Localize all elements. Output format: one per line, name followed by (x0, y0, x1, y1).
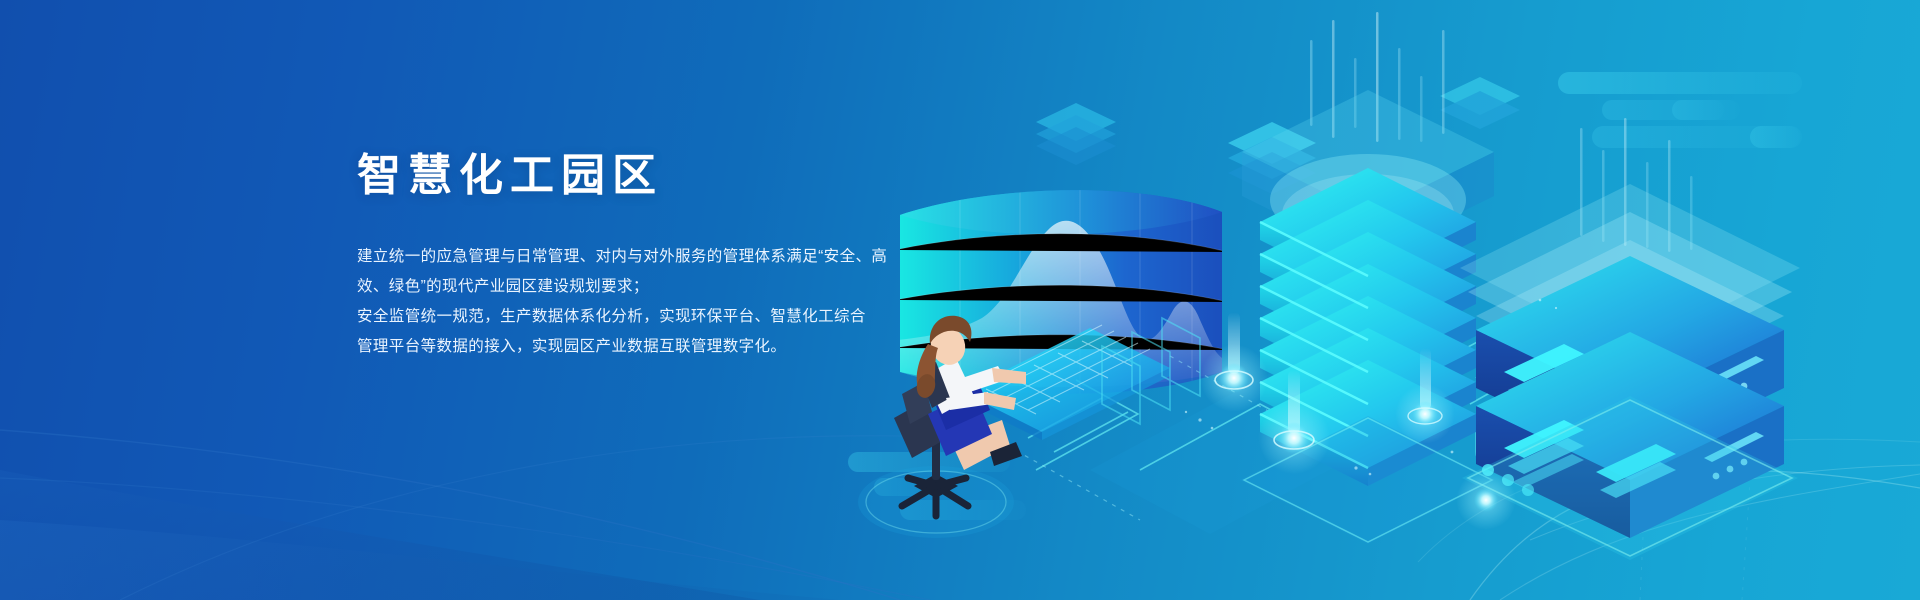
description-line: 管理平台等数据的接入，实现园区产业数据互联管理数字化。 (357, 332, 977, 362)
stacked-server-tower (1240, 90, 1496, 544)
hero-description: 建立统一的应急管理与日常管理、对内与对外服务的管理体系满足“安全、高 效、绿色”… (357, 200, 977, 362)
smart-park-illustration (840, 0, 1920, 600)
description-line: 建立统一的应急管理与日常管理、对内与对外服务的管理体系满足“安全、高 (357, 242, 977, 272)
page-title: 智慧化工园区 (357, 152, 977, 200)
description-line: 安全监管统一规范，生产数据体系化分析，实现环保平台、智慧化工综合 (357, 302, 977, 332)
floating-layer-cube (1440, 77, 1520, 129)
hero-banner: 智慧化工园区 建立统一的应急管理与日常管理、对内与对外服务的管理体系满足“安全、… (0, 0, 1920, 600)
hero-text-block: 智慧化工园区 建立统一的应急管理与日常管理、对内与对外服务的管理体系满足“安全、… (357, 152, 977, 362)
glow-node (1456, 470, 1516, 530)
description-line: 效、绿色”的现代产业园区建设规划要求； (357, 272, 977, 302)
isometric-datacenter-scene (840, 0, 1920, 600)
floating-layer-cube (1036, 103, 1116, 165)
